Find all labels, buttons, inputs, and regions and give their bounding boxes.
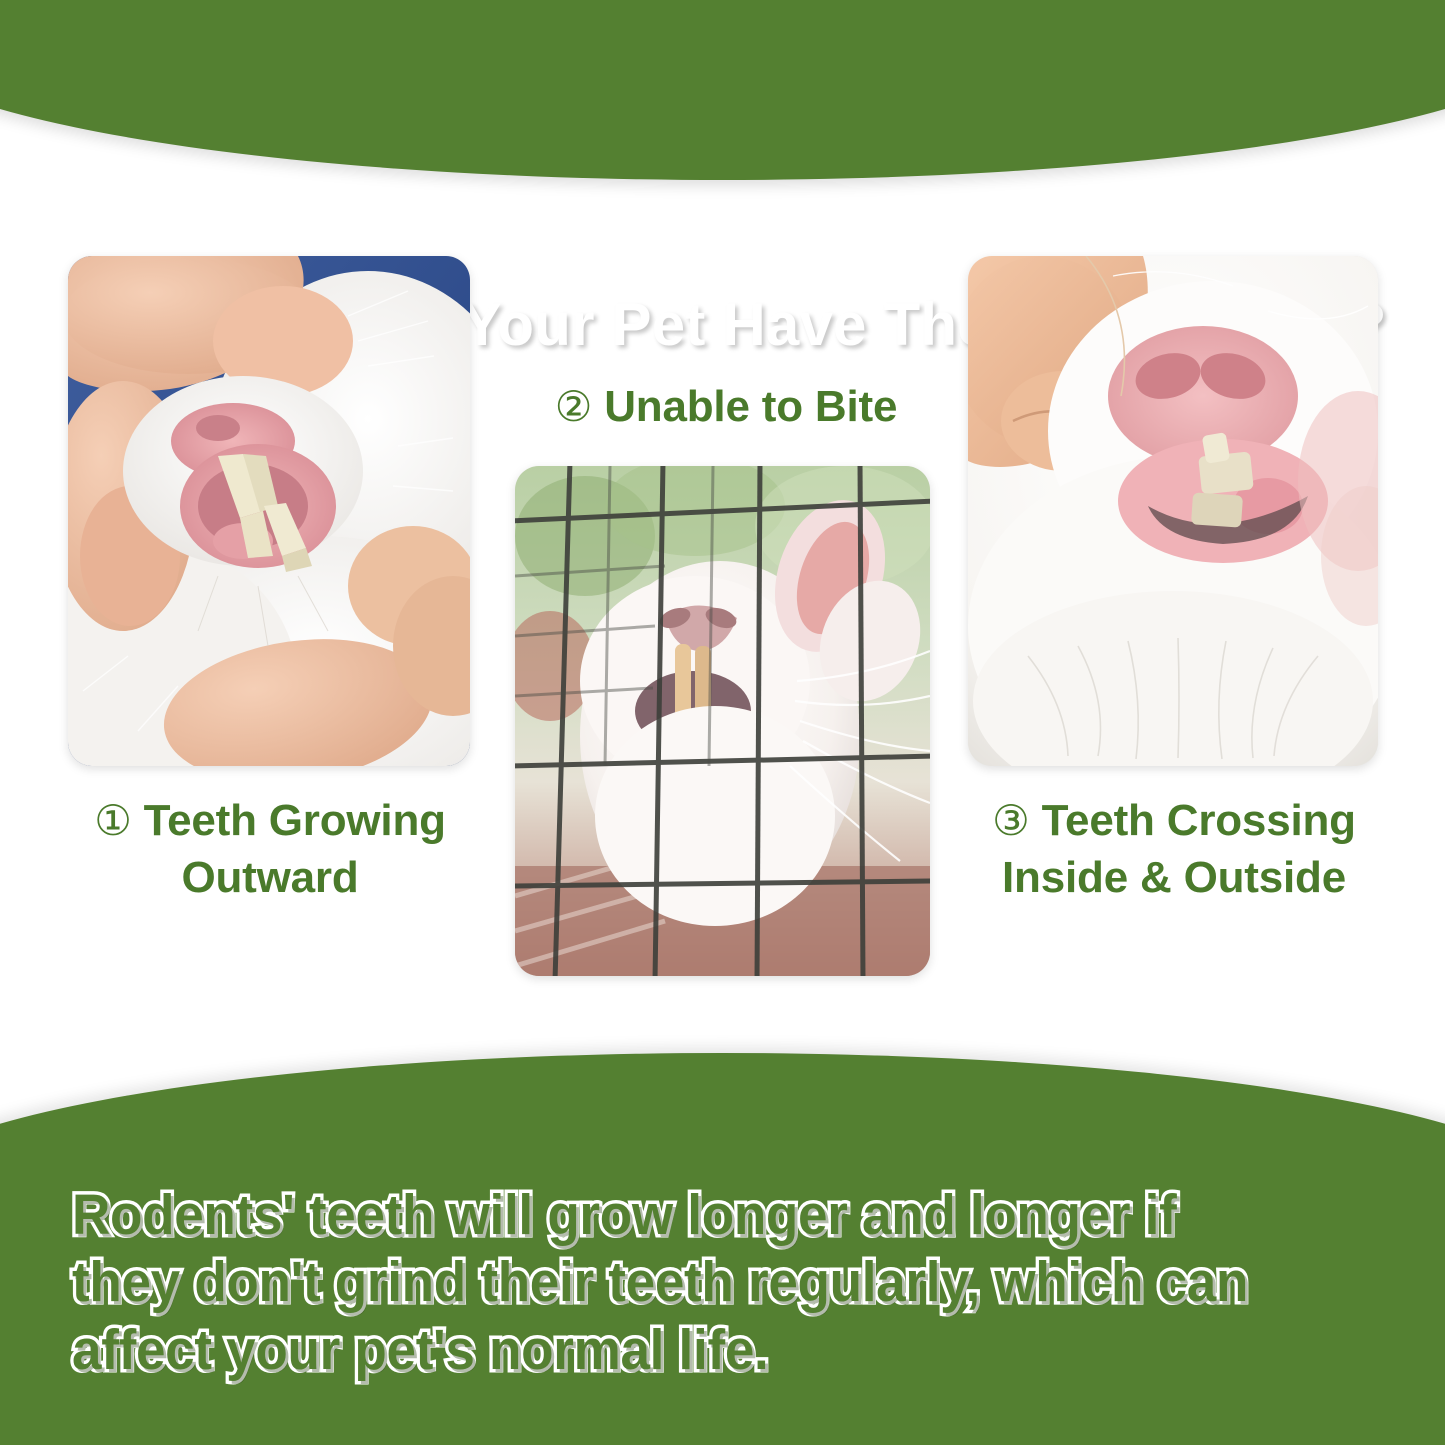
rabbit-in-cage-image xyxy=(515,466,930,976)
infographic-page: Does Your Pet Have These Problems? xyxy=(0,0,1445,1445)
rabbit-overgrown-teeth-image xyxy=(68,256,470,766)
problem-label-1-line1: Teeth Growing xyxy=(144,796,446,845)
problem-photo-1 xyxy=(68,256,470,766)
problem-label-3-line1: Teeth Crossing xyxy=(1042,796,1356,845)
problem-photo-3 xyxy=(968,256,1378,766)
problem-label-2-line1: Unable to Bite xyxy=(604,382,897,431)
problem-label-3-line2: Inside & Outside xyxy=(1002,853,1346,902)
header-banner xyxy=(0,0,1445,180)
problem-label-1-line2: Outward xyxy=(181,853,358,902)
problem-photo-2 xyxy=(515,466,930,976)
problem-caption-1: ① Teeth Growing Outward xyxy=(44,792,496,906)
rabbit-crossed-teeth-image xyxy=(968,256,1378,766)
problem-caption-3: ③ Teeth Crossing Inside & Outside xyxy=(944,792,1404,906)
footer-message: Rodents' teeth will grow longer and long… xyxy=(72,1182,1281,1384)
problem-caption-2: ② Unable to Bite xyxy=(500,378,952,435)
circled-number-3: ③ xyxy=(992,797,1029,844)
circled-number-1: ① xyxy=(94,797,131,844)
circled-number-2: ② xyxy=(555,383,592,430)
